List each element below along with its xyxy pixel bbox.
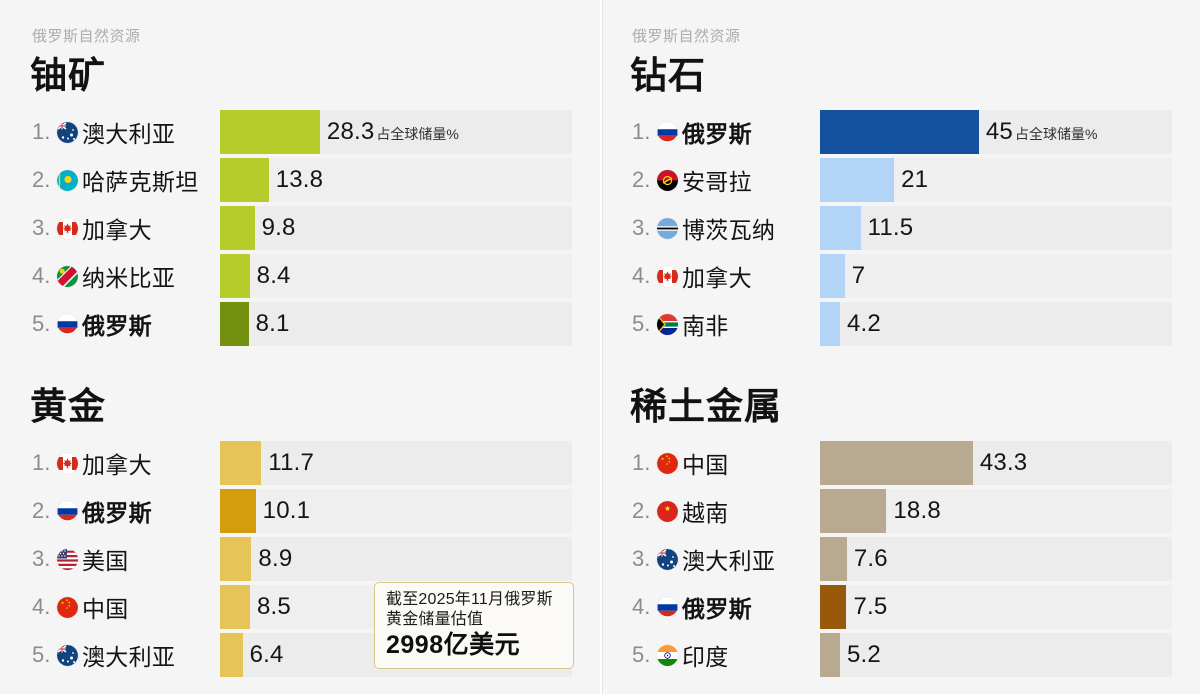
value-group: 21 bbox=[894, 166, 928, 194]
gold-callout-text: 截至2025年11月俄罗斯黄金储量估值 bbox=[386, 590, 563, 629]
row-label: 5.俄罗斯 bbox=[18, 307, 220, 341]
value-group: 45占全球储量% bbox=[979, 118, 1098, 146]
unit-label: 占全球储量% bbox=[376, 124, 458, 144]
row-label: 2.安哥拉 bbox=[618, 163, 820, 197]
country-name: 俄罗斯 bbox=[682, 590, 752, 624]
bw-flag-icon bbox=[657, 218, 678, 239]
panel-title-rare: 稀土金属 bbox=[600, 370, 1200, 427]
value-text: 45 bbox=[986, 118, 1013, 146]
country-name: 安哥拉 bbox=[682, 163, 752, 197]
rank-number: 5. bbox=[632, 311, 654, 337]
row-label: 1.俄罗斯 bbox=[618, 115, 820, 149]
table-row: 4.加拿大7 bbox=[618, 254, 1172, 298]
country-name: 加拿大 bbox=[82, 446, 152, 480]
ao-flag-icon bbox=[657, 170, 678, 191]
row-label: 4.加拿大 bbox=[618, 259, 820, 293]
unit-label: 占全球储量% bbox=[1015, 124, 1097, 144]
rows-diamond: 1.俄罗斯45占全球储量%2.安哥拉213.博茨瓦纳11.54.加拿大75.南非… bbox=[600, 110, 1200, 346]
value-bar bbox=[220, 110, 320, 154]
vn-flag-icon bbox=[657, 501, 678, 522]
value-group: 5.2 bbox=[840, 641, 881, 669]
table-row: 5.南非4.2 bbox=[618, 302, 1172, 346]
left-column: 俄罗斯自然资源 铀矿 1.澳大利亚28.3占全球储量%2.哈萨克斯坦13.83.… bbox=[0, 0, 600, 694]
in-flag-icon bbox=[657, 645, 678, 666]
value-text: 8.5 bbox=[257, 593, 291, 621]
value-bar bbox=[820, 633, 840, 677]
au-flag-icon bbox=[57, 122, 78, 143]
rows-rare-earth: 1.中国43.32.越南18.83.澳大利亚7.64.俄罗斯7.55.印度5.2 bbox=[600, 441, 1200, 677]
panel-diamond: 俄罗斯自然资源 钻石 1.俄罗斯45占全球储量%2.安哥拉213.博茨瓦纳11.… bbox=[600, 0, 1200, 350]
kz-flag-icon bbox=[57, 170, 78, 191]
panel-gold: 黄金 1.加拿大11.72.俄罗斯10.13.美国8.94.中国8.55.澳大利… bbox=[0, 370, 600, 681]
ru-flag-icon bbox=[657, 597, 678, 618]
value-text: 5.2 bbox=[847, 641, 881, 669]
row-label: 5.南非 bbox=[618, 307, 820, 341]
value-text: 21 bbox=[901, 166, 928, 194]
value-bar bbox=[220, 441, 261, 485]
country-name: 南非 bbox=[682, 307, 729, 341]
row-label: 4.纳米比亚 bbox=[18, 259, 220, 293]
panel-title-gold: 黄金 bbox=[0, 370, 600, 427]
value-bar bbox=[220, 206, 255, 250]
row-label: 3.美国 bbox=[18, 542, 220, 576]
value-text: 11.5 bbox=[868, 214, 914, 242]
value-group: 18.8 bbox=[886, 497, 941, 525]
table-row: 3.美国8.9 bbox=[18, 537, 572, 581]
rank-number: 4. bbox=[632, 594, 654, 620]
value-text: 18.8 bbox=[893, 497, 941, 525]
rank-number: 2. bbox=[32, 167, 54, 193]
value-text: 43.3 bbox=[980, 449, 1028, 477]
table-row: 2.安哥拉21 bbox=[618, 158, 1172, 202]
rank-number: 3. bbox=[632, 546, 654, 572]
country-name: 中国 bbox=[82, 590, 129, 624]
value-text: 7 bbox=[852, 262, 866, 290]
value-text: 9.8 bbox=[262, 214, 296, 242]
rank-number: 1. bbox=[32, 119, 54, 145]
value-group: 11.7 bbox=[261, 449, 314, 477]
table-row: 4.纳米比亚8.4 bbox=[18, 254, 572, 298]
ru-flag-icon bbox=[657, 122, 678, 143]
table-row: 3.澳大利亚7.6 bbox=[618, 537, 1172, 581]
value-text: 13.8 bbox=[276, 166, 324, 194]
rank-number: 3. bbox=[32, 215, 54, 241]
rank-number: 3. bbox=[32, 546, 54, 572]
ru-flag-icon bbox=[57, 314, 78, 335]
country-name: 加拿大 bbox=[682, 259, 752, 293]
ca-flag-icon bbox=[657, 266, 678, 287]
value-bar bbox=[220, 633, 243, 677]
country-name: 加拿大 bbox=[82, 211, 152, 245]
country-name: 中国 bbox=[682, 446, 729, 480]
row-label: 5.印度 bbox=[618, 638, 820, 672]
table-row: 2.越南18.8 bbox=[618, 489, 1172, 533]
table-row: 3.博茨瓦纳11.5 bbox=[618, 206, 1172, 250]
country-name: 俄罗斯 bbox=[82, 494, 152, 528]
country-name: 越南 bbox=[682, 494, 729, 528]
country-name: 印度 bbox=[682, 638, 729, 672]
value-bar bbox=[820, 254, 845, 298]
row-label: 1.澳大利亚 bbox=[18, 115, 220, 149]
value-group: 4.2 bbox=[840, 310, 881, 338]
value-bar bbox=[820, 537, 847, 581]
value-group: 11.5 bbox=[861, 214, 914, 242]
cn-flag-icon bbox=[57, 597, 78, 618]
row-label: 1.加拿大 bbox=[18, 446, 220, 480]
ca-flag-icon bbox=[57, 453, 78, 474]
value-text: 7.5 bbox=[853, 593, 887, 621]
table-row: 1.加拿大11.7 bbox=[18, 441, 572, 485]
row-label: 2.俄罗斯 bbox=[18, 494, 220, 528]
panel-kicker-diamond: 俄罗斯自然资源 bbox=[600, 0, 1200, 46]
row-label: 3.澳大利亚 bbox=[618, 542, 820, 576]
row-label: 2.越南 bbox=[618, 494, 820, 528]
panel-rare-earth: 稀土金属 1.中国43.32.越南18.83.澳大利亚7.64.俄罗斯7.55.… bbox=[600, 370, 1200, 681]
value-bar bbox=[820, 110, 979, 154]
panel-title-diamond: 钻石 bbox=[600, 46, 1200, 96]
value-text: 11.7 bbox=[268, 449, 314, 477]
value-bar bbox=[820, 441, 973, 485]
rank-number: 2. bbox=[632, 167, 654, 193]
panel-title-uranium: 铀矿 bbox=[0, 46, 600, 96]
ru-flag-icon bbox=[57, 501, 78, 522]
value-text: 8.1 bbox=[256, 310, 290, 338]
value-bar bbox=[820, 489, 886, 533]
value-group: 7.5 bbox=[846, 593, 887, 621]
rank-number: 4. bbox=[32, 594, 54, 620]
value-group: 28.3占全球储量% bbox=[320, 118, 459, 146]
value-bar bbox=[820, 585, 846, 629]
value-text: 10.1 bbox=[263, 497, 311, 525]
row-label: 2.哈萨克斯坦 bbox=[18, 163, 220, 197]
rank-number: 5. bbox=[32, 642, 54, 668]
infographic-board: 俄罗斯自然资源 铀矿 1.澳大利亚28.3占全球储量%2.哈萨克斯坦13.83.… bbox=[0, 0, 1200, 694]
value-bar bbox=[220, 489, 256, 533]
row-label: 3.加拿大 bbox=[18, 211, 220, 245]
rank-number: 1. bbox=[632, 450, 654, 476]
panel-kicker-uranium: 俄罗斯自然资源 bbox=[0, 0, 600, 46]
au-flag-icon bbox=[657, 549, 678, 570]
rank-number: 2. bbox=[32, 498, 54, 524]
gold-callout-value: 2998亿美元 bbox=[386, 631, 563, 659]
value-text: 4.2 bbox=[847, 310, 881, 338]
rank-number: 2. bbox=[632, 498, 654, 524]
table-row: 5.俄罗斯8.1 bbox=[18, 302, 572, 346]
value-group: 8.4 bbox=[250, 262, 291, 290]
country-name: 澳大利亚 bbox=[82, 638, 175, 672]
value-bar bbox=[820, 158, 894, 202]
country-name: 俄罗斯 bbox=[82, 307, 152, 341]
value-bar bbox=[820, 302, 840, 346]
rank-number: 1. bbox=[32, 450, 54, 476]
value-group: 9.8 bbox=[255, 214, 296, 242]
table-row: 3.加拿大9.8 bbox=[18, 206, 572, 250]
row-label: 1.中国 bbox=[618, 446, 820, 480]
row-label: 4.俄罗斯 bbox=[618, 590, 820, 624]
au-flag-icon bbox=[57, 645, 78, 666]
value-text: 28.3 bbox=[327, 118, 375, 146]
rank-number: 3. bbox=[632, 215, 654, 241]
country-name: 澳大利亚 bbox=[82, 115, 175, 149]
country-name: 俄罗斯 bbox=[682, 115, 752, 149]
value-group: 13.8 bbox=[269, 166, 324, 194]
value-bar bbox=[220, 537, 251, 581]
rank-number: 4. bbox=[32, 263, 54, 289]
table-row: 1.中国43.3 bbox=[618, 441, 1172, 485]
za-flag-icon bbox=[657, 314, 678, 335]
rows-uranium: 1.澳大利亚28.3占全球储量%2.哈萨克斯坦13.83.加拿大9.84.纳米比… bbox=[0, 110, 600, 346]
us-flag-icon bbox=[57, 549, 78, 570]
country-name: 哈萨克斯坦 bbox=[82, 163, 199, 197]
value-group: 7.6 bbox=[847, 545, 888, 573]
right-column: 俄罗斯自然资源 钻石 1.俄罗斯45占全球储量%2.安哥拉213.博茨瓦纳11.… bbox=[600, 0, 1200, 694]
row-label: 5.澳大利亚 bbox=[18, 638, 220, 672]
value-group: 7 bbox=[845, 262, 866, 290]
table-row: 1.俄罗斯45占全球储量% bbox=[618, 110, 1172, 154]
value-bar bbox=[220, 585, 250, 629]
value-group: 8.1 bbox=[249, 310, 290, 338]
country-name: 纳米比亚 bbox=[82, 259, 175, 293]
country-name: 澳大利亚 bbox=[682, 542, 775, 576]
table-row: 2.俄罗斯10.1 bbox=[18, 489, 572, 533]
table-row: 1.澳大利亚28.3占全球储量% bbox=[18, 110, 572, 154]
rank-number: 5. bbox=[632, 642, 654, 668]
row-background bbox=[820, 254, 1172, 298]
rank-number: 4. bbox=[632, 263, 654, 289]
cn-flag-icon bbox=[657, 453, 678, 474]
table-row: 4.俄罗斯7.5 bbox=[618, 585, 1172, 629]
na-flag-icon bbox=[57, 266, 78, 287]
country-name: 博茨瓦纳 bbox=[682, 211, 775, 245]
value-group: 6.4 bbox=[243, 641, 284, 669]
value-bar bbox=[220, 302, 249, 346]
value-bar bbox=[820, 206, 861, 250]
rank-number: 5. bbox=[32, 311, 54, 337]
table-row: 5.印度5.2 bbox=[618, 633, 1172, 677]
value-group: 43.3 bbox=[973, 449, 1028, 477]
value-group: 8.5 bbox=[250, 593, 291, 621]
row-label: 4.中国 bbox=[18, 590, 220, 624]
country-name: 美国 bbox=[82, 542, 129, 576]
rank-number: 1. bbox=[632, 119, 654, 145]
row-label: 3.博茨瓦纳 bbox=[618, 211, 820, 245]
value-group: 8.9 bbox=[251, 545, 292, 573]
value-text: 8.4 bbox=[257, 262, 291, 290]
value-bar bbox=[220, 254, 250, 298]
value-text: 8.9 bbox=[258, 545, 292, 573]
panel-uranium: 俄罗斯自然资源 铀矿 1.澳大利亚28.3占全球储量%2.哈萨克斯坦13.83.… bbox=[0, 0, 600, 350]
ca-flag-icon bbox=[57, 218, 78, 239]
value-text: 7.6 bbox=[854, 545, 888, 573]
table-row: 2.哈萨克斯坦13.8 bbox=[18, 158, 572, 202]
gold-callout: 截至2025年11月俄罗斯黄金储量估值 2998亿美元 bbox=[374, 582, 574, 669]
value-text: 6.4 bbox=[250, 641, 284, 669]
value-group: 10.1 bbox=[256, 497, 311, 525]
value-bar bbox=[220, 158, 269, 202]
